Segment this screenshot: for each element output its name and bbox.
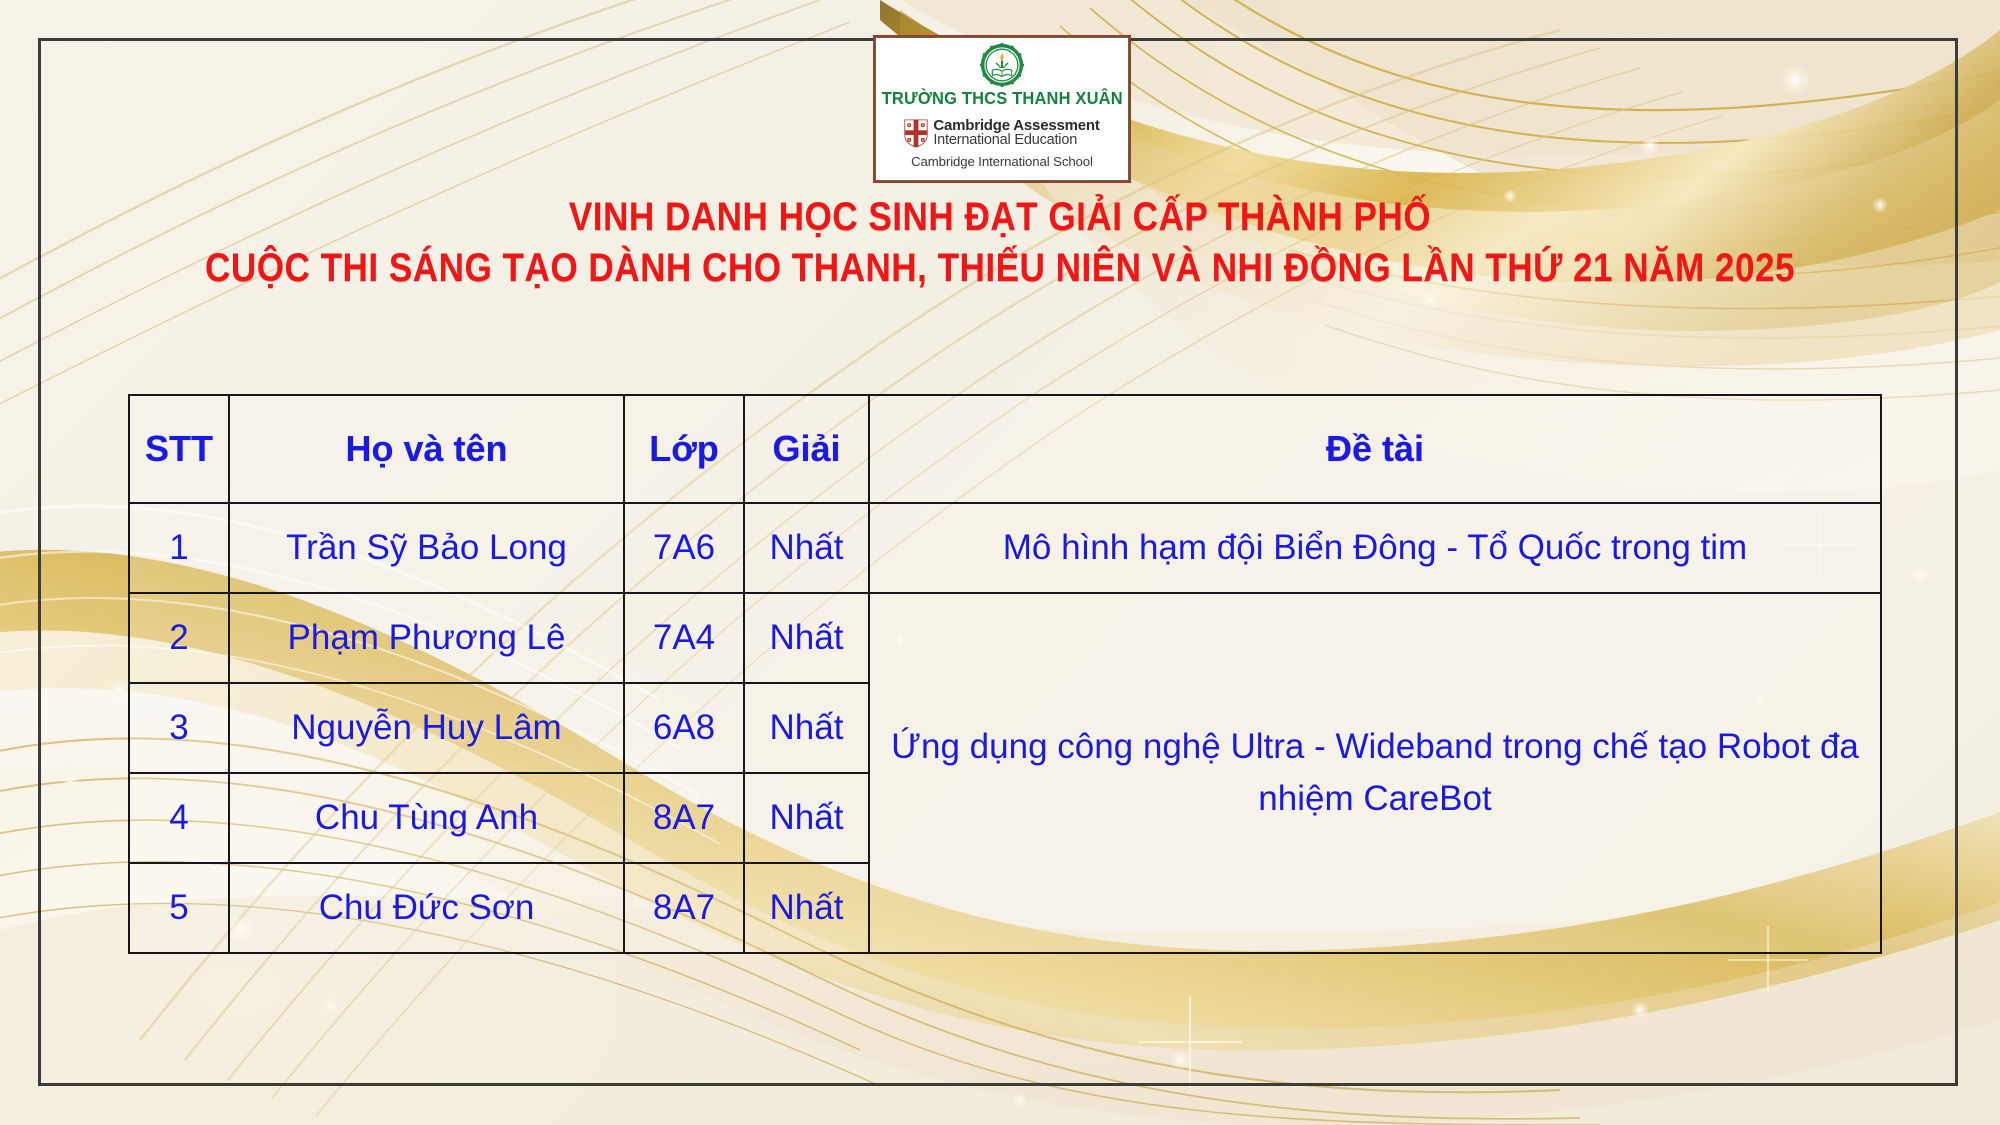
column-header-class: Lớp bbox=[624, 395, 744, 503]
cell-class: 7A6 bbox=[624, 503, 744, 593]
column-header-prize: Giải bbox=[744, 395, 869, 503]
cell-name: Phạm Phương Lê bbox=[229, 593, 624, 683]
cell-prize: Nhất bbox=[744, 683, 869, 773]
school-logo-card: TRƯỜNG THCS THANH XUÂN bbox=[873, 35, 1131, 183]
column-header-name: Họ và tên bbox=[229, 395, 624, 503]
cell-topic: Mô hình hạm đội Biển Đông - Tổ Quốc tron… bbox=[869, 503, 1881, 593]
cell-name: Trần Sỹ Bảo Long bbox=[229, 503, 624, 593]
cell-name: Chu Đức Sơn bbox=[229, 863, 624, 953]
poster-canvas: TRƯỜNG THCS THANH XUÂN bbox=[0, 0, 2000, 1125]
cell-class: 8A7 bbox=[624, 773, 744, 863]
cell-stt: 3 bbox=[129, 683, 229, 773]
cell-stt: 5 bbox=[129, 863, 229, 953]
awards-table: STT Họ và tên Lớp Giải Đề tài 1 Trần Sỹ … bbox=[128, 394, 1882, 954]
cell-class: 7A4 bbox=[624, 593, 744, 683]
table-header-row: STT Họ và tên Lớp Giải Đề tài bbox=[129, 395, 1881, 503]
cell-name: Nguyễn Huy Lâm bbox=[229, 683, 624, 773]
cell-name: Chu Tùng Anh bbox=[229, 773, 624, 863]
cell-class: 6A8 bbox=[624, 683, 744, 773]
column-header-topic: Đề tài bbox=[869, 395, 1881, 503]
page-title-line2: CUỘC THI SÁNG TẠO DÀNH CHO THANH, THIẾU … bbox=[120, 247, 1880, 289]
cambridge-logo: Cambridge Assessment International Educa… bbox=[904, 118, 1099, 148]
school-name-text: TRƯỜNG THCS THANH XUÂN bbox=[881, 88, 1122, 109]
table-row: 2 Phạm Phương Lê 7A4 Nhất Ứng dụng công … bbox=[129, 593, 1881, 683]
cambridge-line1: Cambridge Assessment bbox=[933, 118, 1099, 133]
school-emblem-icon bbox=[980, 43, 1024, 87]
cambridge-line2: International Education bbox=[933, 133, 1099, 148]
table-row: 1 Trần Sỹ Bảo Long 7A6 Nhất Mô hình hạm … bbox=[129, 503, 1881, 593]
column-header-stt: STT bbox=[129, 395, 229, 503]
cell-stt: 4 bbox=[129, 773, 229, 863]
cell-class: 8A7 bbox=[624, 863, 744, 953]
cell-topic-merged: Ứng dụng công nghệ Ultra - Wideband tron… bbox=[869, 593, 1881, 953]
cambridge-subtitle: Cambridge International School bbox=[911, 154, 1093, 169]
cell-prize: Nhất bbox=[744, 773, 869, 863]
cell-stt: 1 bbox=[129, 503, 229, 593]
poster-title-block: VINH DANH HỌC SINH ĐẠT GIẢI CẤP THÀNH PH… bbox=[0, 196, 2000, 290]
cambridge-shield-icon bbox=[904, 119, 928, 148]
cell-prize: Nhất bbox=[744, 503, 869, 593]
cell-prize: Nhất bbox=[744, 863, 869, 953]
cell-prize: Nhất bbox=[744, 593, 869, 683]
page-title-line1: VINH DANH HỌC SINH ĐẠT GIẢI CẤP THÀNH PH… bbox=[120, 196, 1880, 238]
cell-stt: 2 bbox=[129, 593, 229, 683]
